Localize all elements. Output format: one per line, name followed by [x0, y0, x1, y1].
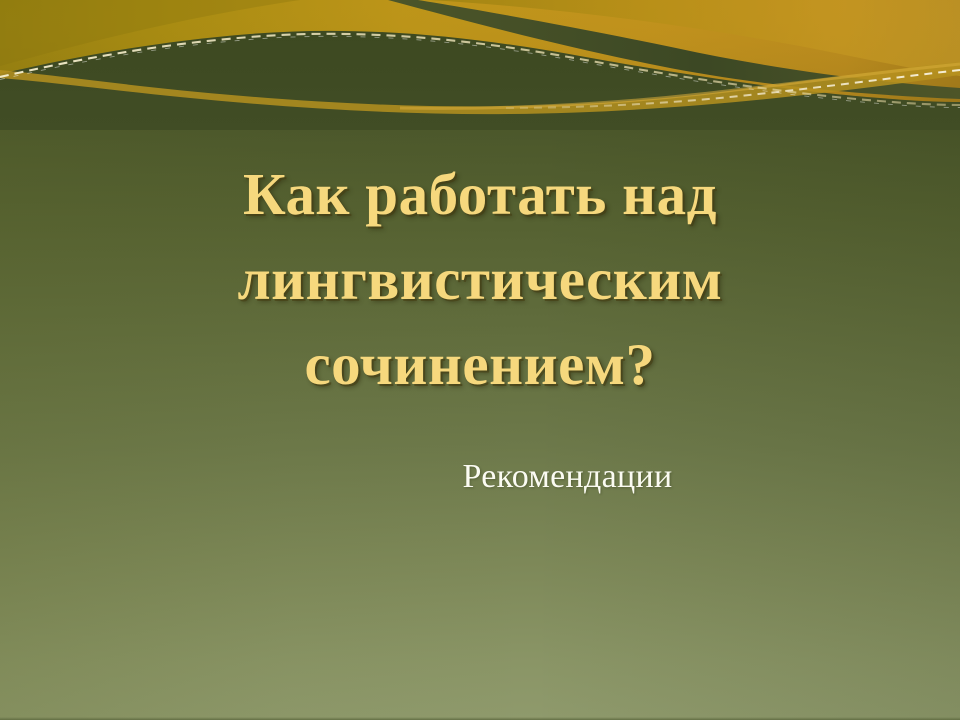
subtitle-text: Рекомендации — [462, 458, 672, 495]
slide-title: Как работать над лингвистическим сочинен… — [48, 152, 912, 407]
title-line-1: Как работать над — [48, 152, 912, 237]
slide-canvas: Как работать над лингвистическим сочинен… — [0, 0, 960, 720]
slide-subtitle: Рекомендации — [0, 455, 960, 499]
title-line-2: лингвистическим — [48, 237, 912, 322]
title-line-3: сочинением? — [48, 322, 912, 407]
